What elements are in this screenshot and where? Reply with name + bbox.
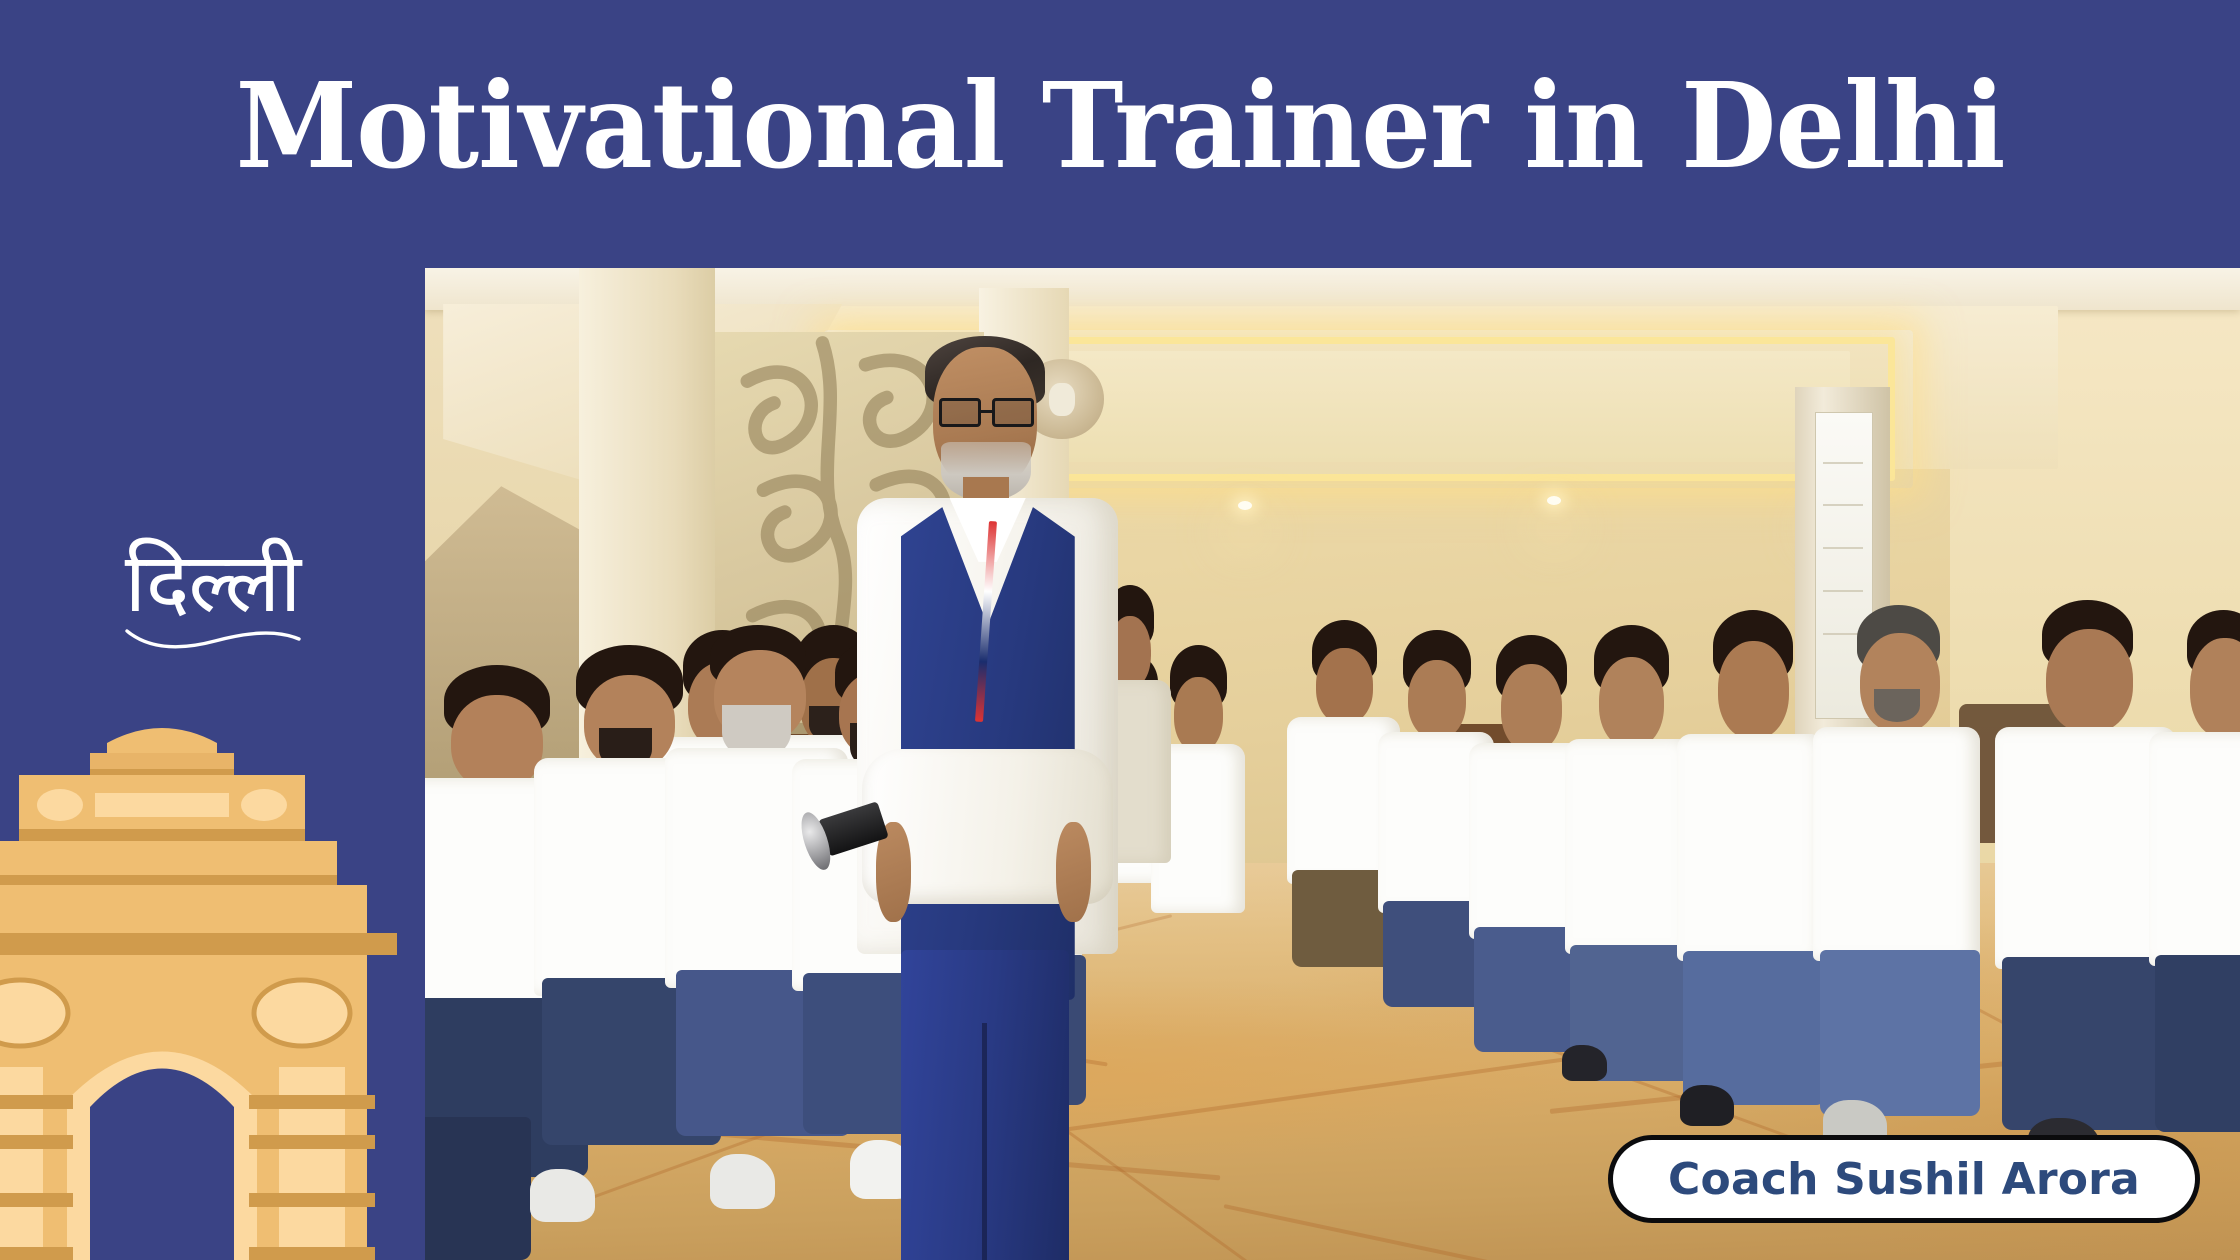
seminar-photo [425, 268, 2240, 1260]
poster-canvas: Motivational Trainer in Delhi दिल्ली [0, 0, 2240, 1260]
page-title: Motivational Trainer in Delhi [235, 67, 2004, 185]
audience-member [1813, 605, 1980, 1161]
india-gate-icon [0, 715, 397, 1260]
title-bar: Motivational Trainer in Delhi [0, 0, 2240, 268]
hindi-wordmark-text: दिल्ली [0, 545, 425, 623]
badge-label: Coach Sushil Arora [1668, 1154, 2140, 1205]
speaker-figure [852, 347, 1124, 1260]
hindi-wordmark: दिल्ली [0, 545, 425, 651]
ceiling-spotlight-icon [1547, 496, 1561, 505]
speaker-hand [1056, 822, 1091, 922]
status-badge[interactable]: Coach Sushil Arora [1608, 1135, 2200, 1223]
audience-member [1565, 625, 1696, 1081]
audience-member [1677, 610, 1826, 1126]
audience-member [2149, 610, 2240, 1166]
eyeglasses-icon [939, 398, 1034, 426]
